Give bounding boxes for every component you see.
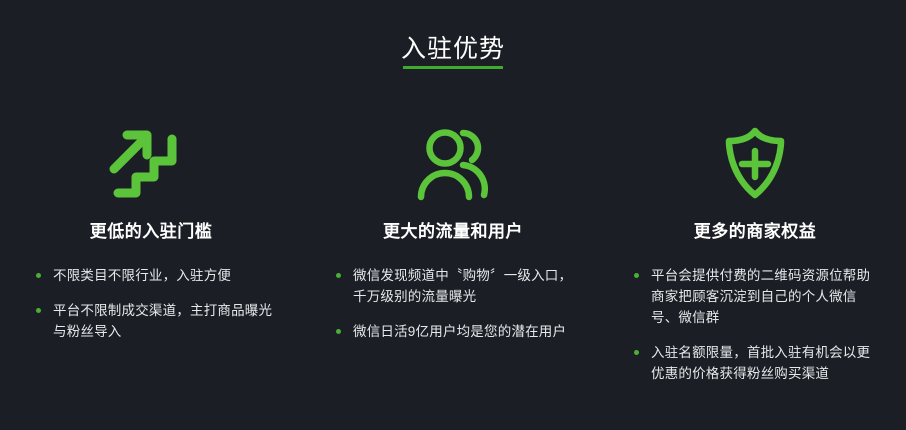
column-title: 更多的商家权益 <box>694 221 817 243</box>
list-item: 平台不限制成交渠道，主打商品曝光与粉丝导入 <box>28 300 278 342</box>
benefit-list: 微信发现频道中〝购物〞一级入口，千万级别的流量曝光 微信日活9亿用户均是您的潜在… <box>328 265 576 342</box>
bullet-dot-icon <box>634 273 639 278</box>
list-item-text: 平台会提供付费的二维码资源位帮助商家把顾客沉淀到自己的个人微信号、微信群 <box>651 268 870 325</box>
benefit-list: 平台会提供付费的二维码资源位帮助商家把顾客沉淀到自己的个人微信号、微信群 入驻名… <box>626 265 878 384</box>
page-title-text: 入驻优势 <box>401 35 505 63</box>
benefit-list: 不限类目不限行业，入驻方便 平台不限制成交渠道，主打商品曝光与粉丝导入 <box>28 265 278 342</box>
list-item: 入驻名额限量，首批入驻有机会以更优惠的价格获得粉丝购买渠道 <box>626 342 878 384</box>
list-item: 不限类目不限行业，入驻方便 <box>28 265 278 286</box>
column-title: 更大的流量和用户 <box>383 221 523 243</box>
list-item: 微信日活9亿用户均是您的潜在用户 <box>328 321 576 342</box>
bullet-dot-icon <box>36 308 41 313</box>
advantage-columns: 更低的入驻门槛 不限类目不限行业，入驻方便 平台不限制成交渠道，主打商品曝光与粉… <box>0 125 906 384</box>
title-underline <box>403 66 503 69</box>
advantage-column-2: 更大的流量和用户 微信发现频道中〝购物〞一级入口，千万级别的流量曝光 微信日活9… <box>302 125 604 342</box>
column-title: 更低的入驻门槛 <box>90 221 213 243</box>
bullet-dot-icon <box>336 329 341 334</box>
advantage-column-1: 更低的入驻门槛 不限类目不限行业，入驻方便 平台不限制成交渠道，主打商品曝光与粉… <box>0 125 302 342</box>
advantage-column-3: 更多的商家权益 平台会提供付费的二维码资源位帮助商家把顾客沉淀到自己的个人微信号… <box>604 125 906 384</box>
section-header: 入驻优势 <box>0 34 906 69</box>
two-users-icon <box>407 125 499 203</box>
list-item-text: 微信日活9亿用户均是您的潜在用户 <box>353 324 566 339</box>
advantages-section: 入驻优势 更低的入驻门槛 不限类目不限行业，入驻方便 <box>0 0 906 430</box>
bullet-dot-icon <box>336 273 341 278</box>
shield-plus-icon <box>715 125 795 203</box>
list-item-text: 入驻名额限量，首批入驻有机会以更优惠的价格获得粉丝购买渠道 <box>651 345 870 381</box>
page-title: 入驻优势 <box>401 34 505 69</box>
bullet-dot-icon <box>36 273 41 278</box>
stairs-arrow-up-icon <box>108 125 194 203</box>
list-item-text: 不限类目不限行业，入驻方便 <box>53 268 231 283</box>
list-item: 微信发现频道中〝购物〞一级入口，千万级别的流量曝光 <box>328 265 576 307</box>
bullet-dot-icon <box>634 350 639 355</box>
list-item: 平台会提供付费的二维码资源位帮助商家把顾客沉淀到自己的个人微信号、微信群 <box>626 265 878 328</box>
list-item-text: 平台不限制成交渠道，主打商品曝光与粉丝导入 <box>53 303 272 339</box>
list-item-text: 微信发现频道中〝购物〞一级入口，千万级别的流量曝光 <box>353 268 572 304</box>
